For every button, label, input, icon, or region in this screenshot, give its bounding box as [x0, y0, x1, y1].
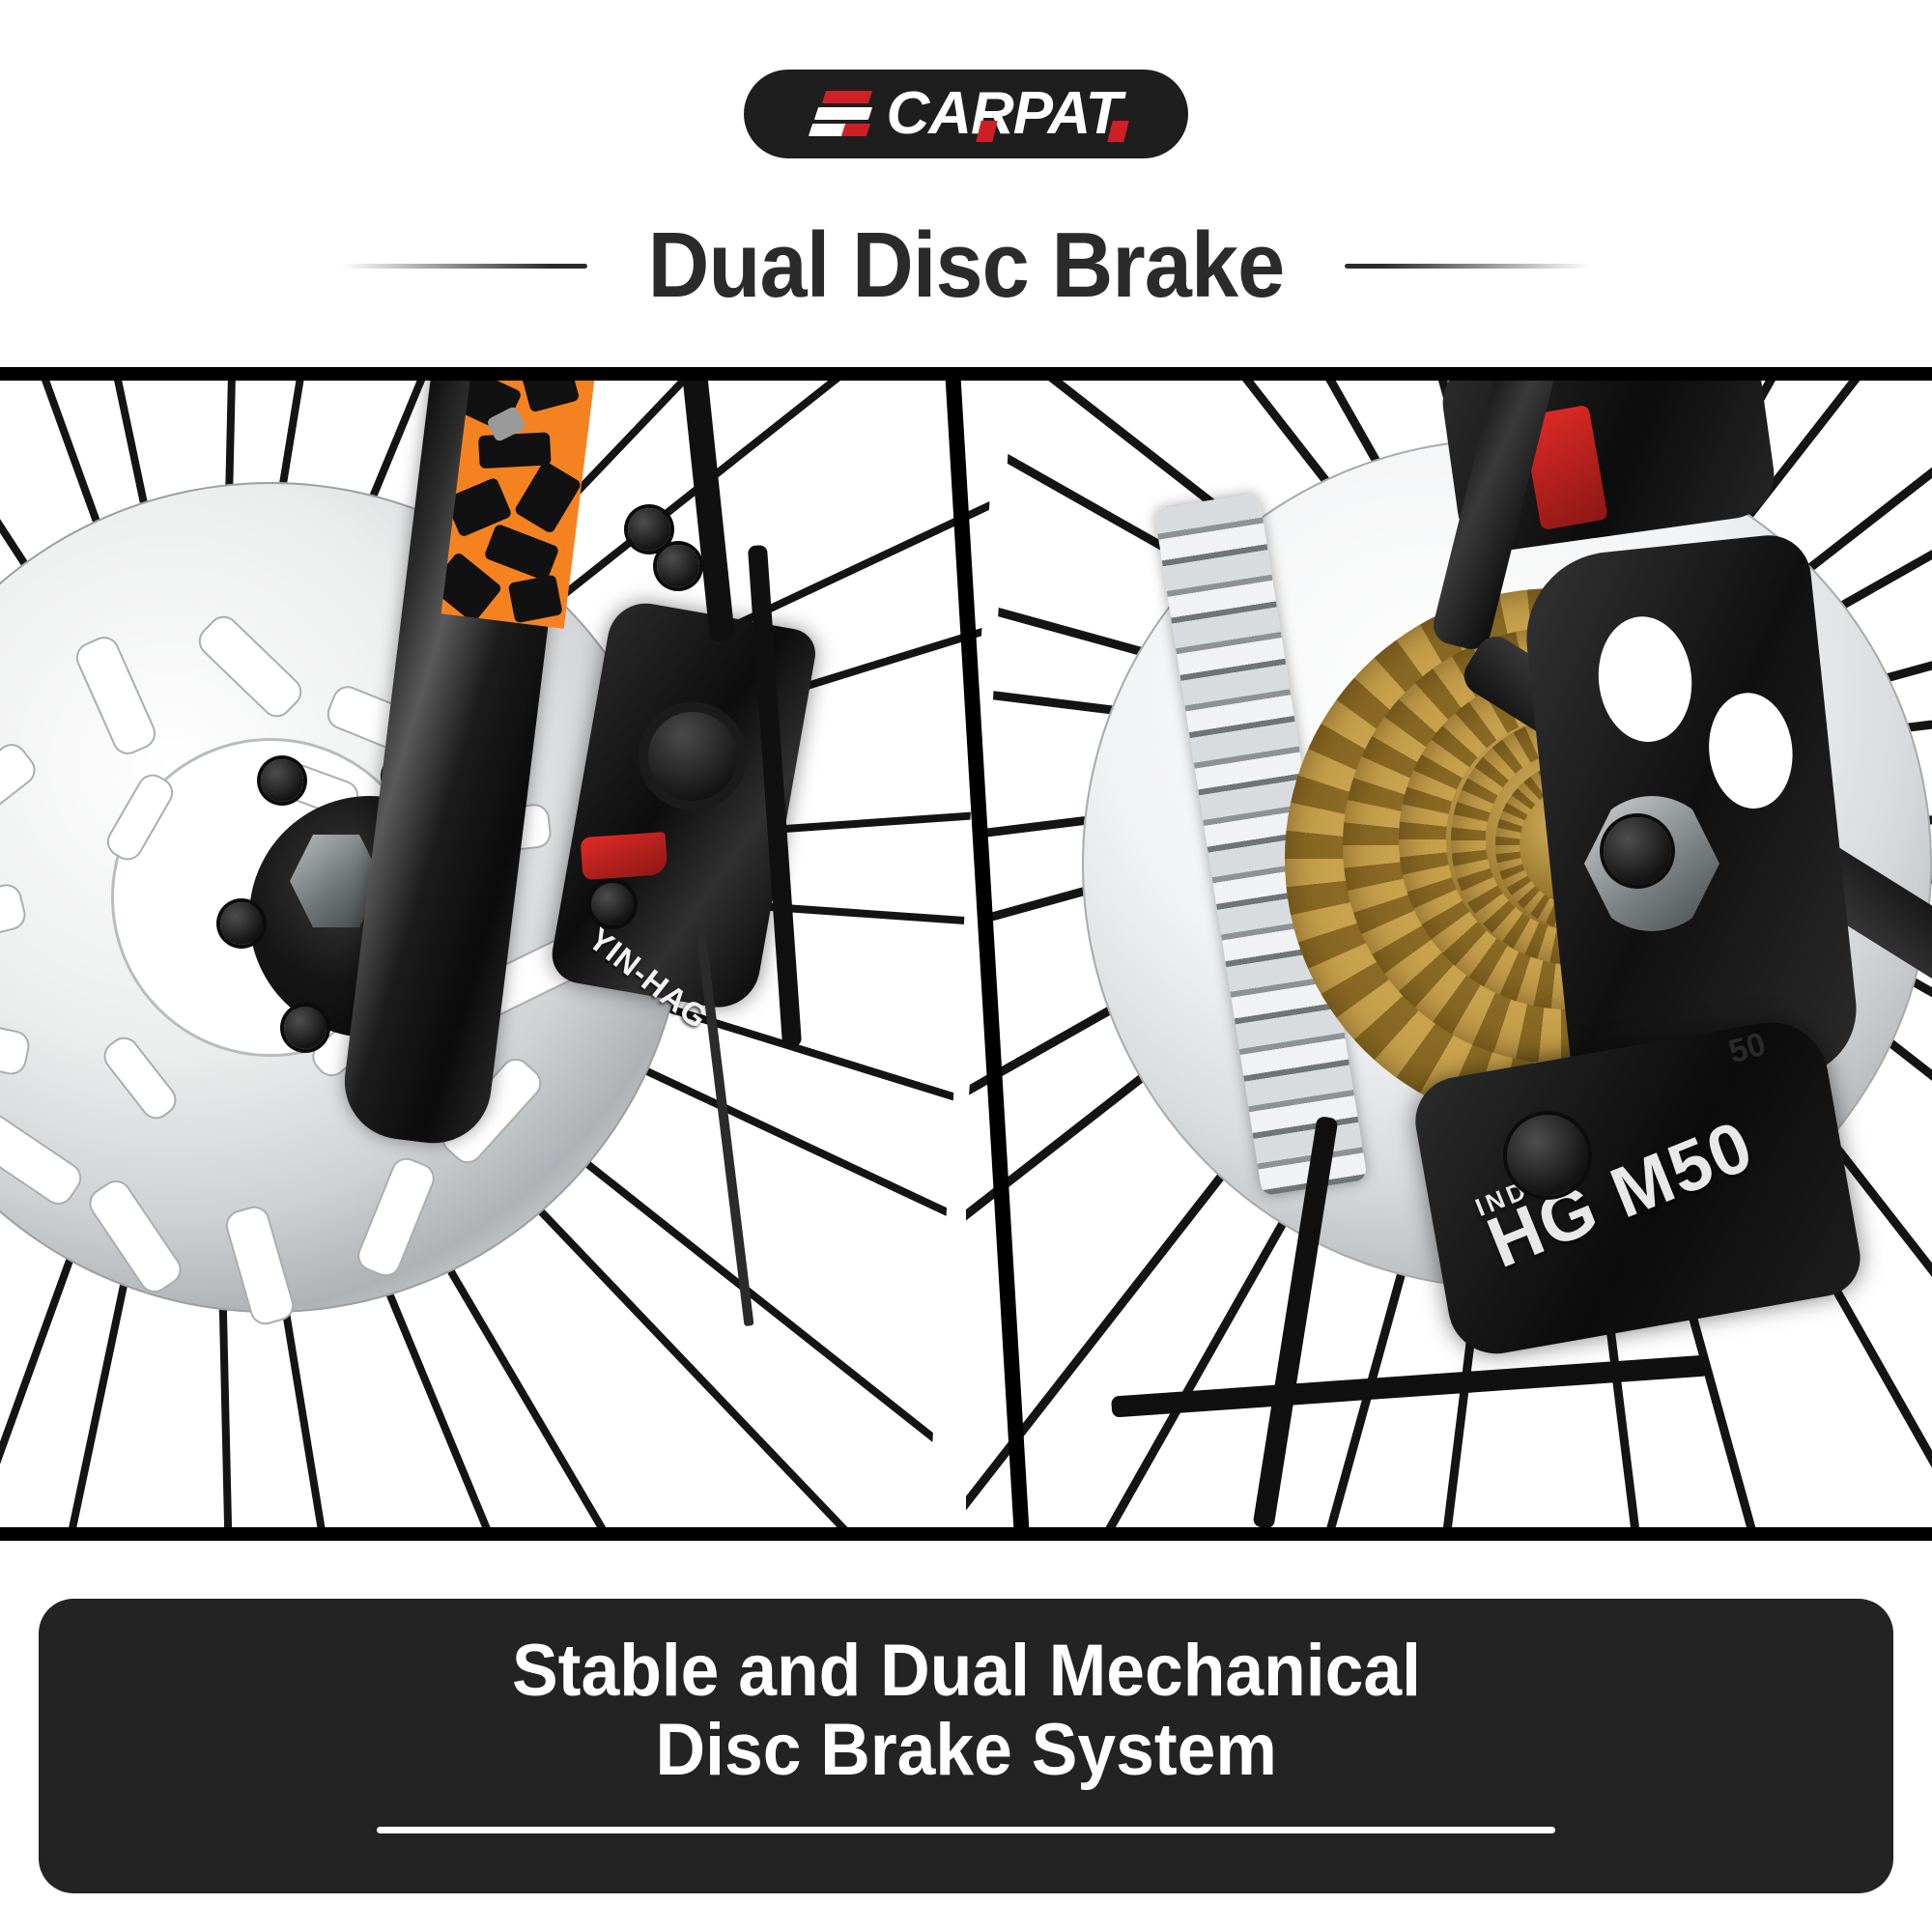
brand-logo-label: CARPAT	[886, 80, 1121, 147]
title-row: Dual Disc Brake	[0, 208, 1932, 324]
rear-drivetrain-photo-panel: INDEX HG M50 50	[966, 381, 1932, 1527]
caption-line-1: Stable and Dual Mechanical	[512, 1632, 1421, 1711]
product-photo-band: YIN-HAG	[0, 367, 1932, 1541]
front-brake-photo-panel: YIN-HAG	[0, 381, 1024, 1527]
caption-underline	[377, 1827, 1555, 1833]
caliper-red-pad-tab	[581, 832, 668, 880]
axle-bolt	[1604, 817, 1671, 885]
caliper-bolt	[657, 545, 699, 587]
decorative-rule-left-icon	[341, 264, 587, 269]
caption-card: Stable and Dual Mechanical Disc Brake Sy…	[39, 1599, 1893, 1893]
derailleur-pivot-bolt	[1507, 1115, 1588, 1196]
rotor-bolt	[220, 902, 263, 945]
caliper-bolt	[591, 883, 634, 925]
photo-panels: YIN-HAG	[0, 381, 1932, 1527]
rotor-bolt	[261, 759, 303, 802]
rotor-bolt	[284, 1007, 327, 1049]
decorative-rule-right-icon	[1345, 264, 1591, 269]
page-title: Dual Disc Brake	[648, 219, 1285, 312]
header: CARPAT Dual Disc Brake	[0, 0, 1932, 367]
caption-line-2: Disc Brake System	[655, 1711, 1276, 1790]
logo-accent-b	[1108, 121, 1129, 142]
brand-logo-text: CARPAT	[886, 84, 1121, 144]
carpat-e-mark-icon	[810, 89, 870, 139]
brand-logo: CARPAT	[744, 70, 1188, 158]
caliper-adjuster-knob	[630, 694, 755, 819]
caliper-bolt	[628, 508, 670, 551]
